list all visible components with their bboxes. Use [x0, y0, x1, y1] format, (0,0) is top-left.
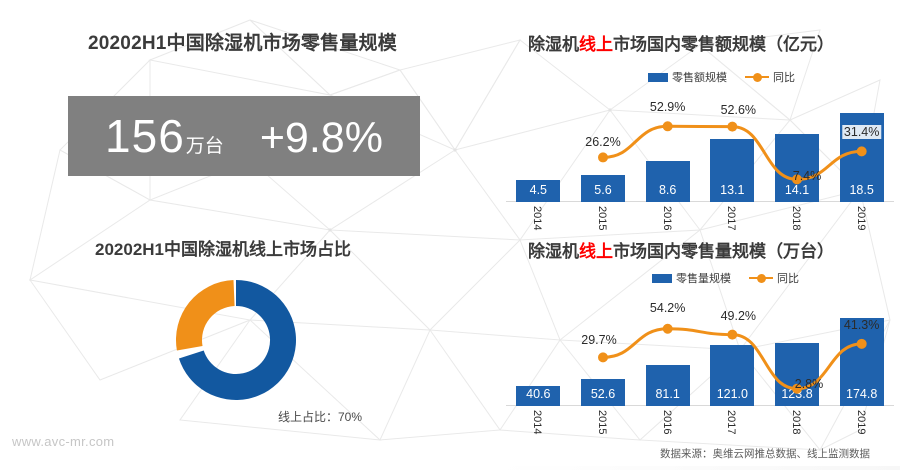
chart2-plot-area: 40.652.681.1121.0123.8174.829.7%54.2%49.… [506, 288, 894, 406]
growth-label-2019: 41.3% [844, 318, 879, 332]
donut-svg [168, 272, 304, 408]
line-marker-icon [745, 73, 769, 82]
trend-line-marker [598, 152, 608, 162]
chart1-title-post: 市场国内零售额规模（亿元） [613, 35, 834, 54]
x-axis-label-2014: 2014 [531, 206, 543, 230]
chart1-legend-bar-label: 零售额规模 [672, 69, 727, 85]
chart1-legend-line: 同比 [745, 69, 795, 85]
growth-label-2016: 52.9% [650, 100, 685, 114]
left-panel-title: 20202H1中国除湿机市场零售量规模 [88, 28, 448, 55]
trend-line-marker [727, 330, 737, 340]
line-marker-icon [749, 274, 773, 283]
trend-line-marker [857, 339, 867, 349]
chart2-title: 除湿机线上市场国内零售量规模（万台） [528, 237, 834, 262]
chart1-legend-bar: 零售额规模 [648, 69, 727, 85]
chart2-legend-bar-label: 零售量规模 [676, 270, 731, 286]
x-axis-label-2015: 2015 [596, 206, 608, 230]
chart2-title-highlight: 线上 [579, 242, 613, 261]
trend-line-marker [727, 122, 737, 132]
x-axis-label-2018: 2018 [790, 206, 802, 230]
trend-line-marker [663, 121, 673, 131]
growth-label-2016: 54.2% [650, 301, 685, 315]
donut-chart-title: 20202H1中国除湿机线上市场占比 [95, 235, 455, 260]
chart1-legend-line-label: 同比 [773, 69, 795, 85]
kpi-inner: 156 万台 +9.8% [105, 113, 383, 160]
kpi-highlight-box: 156 万台 +9.8% [68, 96, 420, 176]
growth-label-2017: 52.6% [721, 103, 756, 117]
chart2-legend-bar: 零售量规模 [652, 270, 731, 286]
chart2-legend-line: 同比 [749, 270, 799, 286]
chart1-title-highlight: 线上 [579, 35, 613, 54]
chart2-title-pre: 除湿机 [528, 242, 579, 261]
kpi-value: 156 [105, 113, 185, 159]
growth-label-2015: 29.7% [581, 333, 616, 347]
x-axis-label-2017: 2017 [725, 410, 737, 434]
x-axis-label-2018: 2018 [790, 410, 802, 434]
donut-slice-offline [176, 280, 235, 350]
trend-line-svg [506, 288, 894, 406]
trend-line-marker [598, 352, 608, 362]
growth-label-2015: 26.2% [585, 135, 620, 149]
bar-swatch-icon [648, 73, 668, 82]
chart2-legend: 零售量规模 同比 [652, 270, 799, 286]
growth-label-2018: 7.4% [793, 169, 822, 183]
trend-line-marker [663, 324, 673, 334]
x-axis-label-2019: 2019 [855, 410, 867, 434]
trend-line-marker [857, 146, 867, 156]
chart1-title: 除湿机线上市场国内零售额规模（亿元） [528, 30, 834, 55]
x-axis-label-2016: 2016 [661, 410, 673, 434]
x-axis-label-2015: 2015 [596, 410, 608, 434]
x-axis-label-2019: 2019 [855, 206, 867, 230]
x-axis-label-2016: 2016 [661, 206, 673, 230]
growth-label-2017: 49.2% [721, 309, 756, 323]
bar-swatch-icon [652, 274, 672, 283]
data-source-note: 数据来源：奥维云网推总数据、线上监测数据 [660, 446, 870, 461]
x-axis-label-2017: 2017 [725, 206, 737, 230]
chart1-title-pre: 除湿机 [528, 35, 579, 54]
kpi-unit: 万台 [186, 131, 224, 158]
donut-annotation: 线上占比：70% [278, 408, 478, 425]
kpi-growth: +9.8% [260, 117, 383, 160]
chart2-legend-line-label: 同比 [777, 270, 799, 286]
x-axis-label-2014: 2014 [531, 410, 543, 434]
growth-label-2019: 31.4% [842, 125, 881, 139]
chart2-title-post: 市场国内零售量规模（万台） [613, 242, 834, 261]
trend-line-svg [506, 84, 894, 202]
chart1-legend: 零售额规模 同比 [648, 69, 795, 85]
site-watermark: www.avc-mr.com [12, 434, 114, 449]
growth-label-2018: 2.8% [795, 377, 824, 391]
chart1-plot-area: 4.55.68.613.114.118.526.2%52.9%52.6%7.4%… [506, 84, 894, 202]
donut-chart [168, 272, 304, 408]
trend-line-path [603, 126, 862, 179]
slide-canvas: 20202H1中国除湿机市场零售量规模 156 万台 +9.8% 20202H1… [0, 0, 900, 470]
footer-accent-bar [0, 466, 900, 470]
